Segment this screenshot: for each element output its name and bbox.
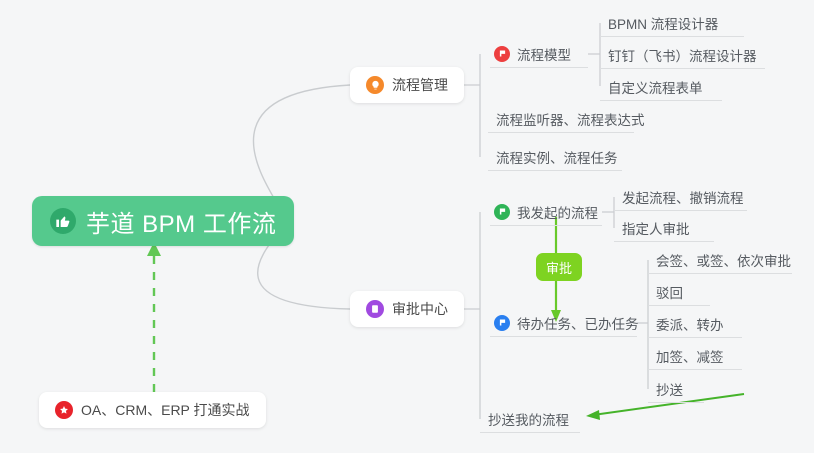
root-label: 芋道 BPM 工作流 [86, 204, 276, 239]
leaf-todo-done-tasks[interactable]: 待办任务、已办任务 [490, 309, 637, 337]
leaf-cc[interactable]: 抄送 [648, 375, 704, 403]
clipboard-icon [366, 300, 384, 318]
leaf-start-cancel-process[interactable]: 发起流程、撤销流程 [614, 183, 747, 211]
leaf-custom-form[interactable]: 自定义流程表单 [600, 73, 722, 101]
leaf-my-started-process[interactable]: 我发起的流程 [490, 198, 602, 226]
flag-icon [494, 315, 510, 331]
leaf-reject[interactable]: 驳回 [648, 278, 710, 306]
lightbulb-icon [366, 76, 384, 94]
leaf-label: 流程实例、流程任务 [496, 147, 618, 167]
leaf-label: 流程模型 [517, 44, 571, 64]
leaf-label: 加签、减签 [656, 346, 724, 366]
thumbs-up-icon [50, 208, 76, 234]
leaf-countersign[interactable]: 会签、或签、依次审批 [648, 246, 792, 274]
approval-badge: 审批 [536, 253, 582, 281]
leaf-label: 流程监听器、流程表达式 [496, 109, 645, 129]
leaf-label: 指定人审批 [622, 218, 690, 238]
leaf-label: 钉钉（飞书）流程设计器 [608, 45, 757, 65]
flag-icon [494, 46, 510, 62]
leaf-dingtalk-designer[interactable]: 钉钉（飞书）流程设计器 [600, 41, 765, 69]
leaf-label: 我发起的流程 [517, 202, 598, 222]
leaf-label: BPMN 流程设计器 [608, 13, 718, 33]
flag-icon [494, 204, 510, 220]
branch-label-process-management: 流程管理 [392, 75, 448, 95]
bottom-node-integration[interactable]: OA、CRM、ERP 打通实战 [39, 392, 266, 428]
leaf-assignee-approval[interactable]: 指定人审批 [614, 214, 714, 242]
branch-node-process-management[interactable]: 流程管理 [350, 67, 464, 103]
branch-label-approval-center: 审批中心 [392, 299, 448, 319]
leaf-process-listener[interactable]: 流程监听器、流程表达式 [488, 105, 634, 133]
leaf-label: 待办任务、已办任务 [517, 313, 639, 333]
leaf-label: 抄送我的流程 [488, 409, 569, 429]
root-node[interactable]: 芋道 BPM 工作流 [32, 196, 294, 246]
leaf-label: 发起流程、撤销流程 [622, 187, 744, 207]
leaf-bpmn-designer[interactable]: BPMN 流程设计器 [600, 9, 744, 37]
leaf-process-instance[interactable]: 流程实例、流程任务 [488, 143, 622, 171]
leaf-label: 委派、转办 [656, 314, 724, 334]
leaf-label: 自定义流程表单 [608, 77, 703, 97]
leaf-cc-my-process[interactable]: 抄送我的流程 [480, 405, 580, 433]
branch-node-approval-center[interactable]: 审批中心 [350, 291, 464, 327]
star-icon [55, 401, 73, 419]
mindmap-canvas: 芋道 BPM 工作流 流程管理 流程模型 BPMN 流程设计器 钉钉（飞书）流程… [0, 0, 814, 453]
bottom-node-label: OA、CRM、ERP 打通实战 [81, 400, 250, 420]
leaf-label: 会签、或签、依次审批 [656, 250, 791, 270]
leaf-label: 驳回 [656, 282, 683, 302]
leaf-process-model[interactable]: 流程模型 [490, 40, 588, 68]
leaf-add-remove-sign[interactable]: 加签、减签 [648, 342, 742, 370]
approval-badge-label: 审批 [546, 258, 572, 277]
leaf-label: 抄送 [656, 379, 683, 399]
leaf-delegate-transfer[interactable]: 委派、转办 [648, 310, 742, 338]
